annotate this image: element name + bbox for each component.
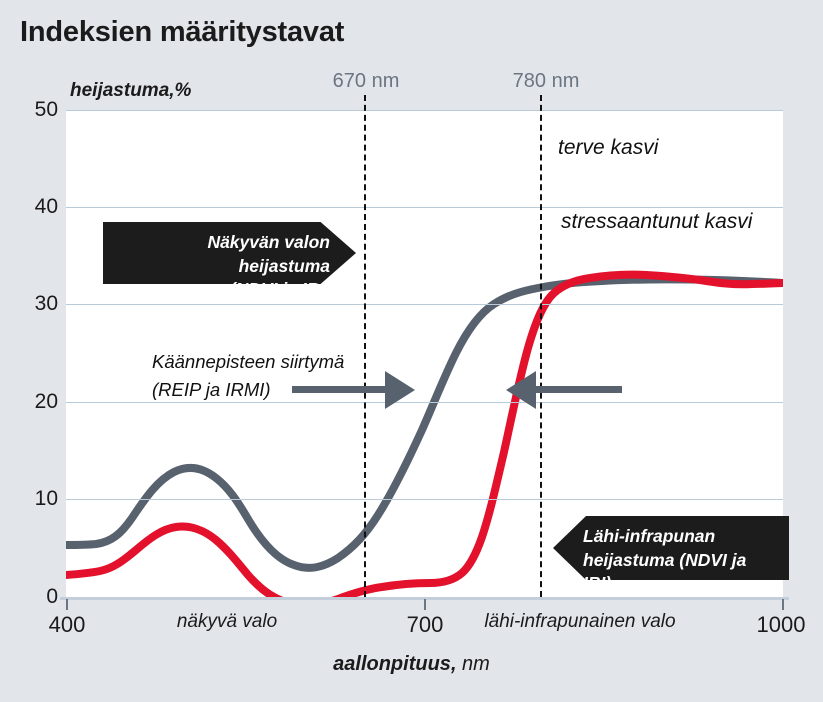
curve-label-healthy: terve kasvi	[558, 136, 658, 160]
x-tick-1000: 1000	[757, 612, 806, 638]
gridline-40	[66, 207, 783, 208]
band-label-visible: näkyvä valo	[177, 611, 277, 633]
y-tick-30: 30	[12, 292, 58, 316]
callout-nir: Lähi-infrapunan heijastuma (NDVI ja IBI)	[553, 516, 789, 580]
x-tick-mark-400	[66, 599, 68, 610]
page-title: Indeksien määritystavat	[20, 16, 344, 49]
gridline-50	[66, 110, 783, 111]
y-axis-ticks: 50 40 30 20 10 0	[0, 110, 58, 597]
x-axis-label: aallonpituus, nm	[0, 653, 823, 676]
x-tick-400: 400	[49, 612, 86, 638]
y-axis-label-text: heijastuma	[70, 80, 169, 101]
shift-arrow-right-shaft	[292, 386, 385, 393]
y-tick-0: 0	[12, 585, 58, 609]
vline-670nm	[364, 95, 366, 597]
x-tick-mark-700	[424, 599, 426, 610]
y-tick-50: 50	[12, 98, 58, 122]
shift-annotation-line1: Käännepisteen siirtymä	[152, 348, 344, 376]
band-label-nir: lähi-infrapunainen valo	[484, 611, 675, 633]
y-axis-label-unit: ,%	[169, 80, 191, 101]
chart-page: Indeksien määritystavat heijastuma,% 50 …	[0, 0, 823, 702]
x-axis-label-text: aallonpituus	[333, 653, 451, 675]
y-tick-10: 10	[12, 487, 58, 511]
gridline-10	[66, 499, 783, 500]
gridline-30	[66, 304, 783, 305]
callout-visible-light: Näkyvän valon heijastuma (NDVI ja IBI)	[103, 222, 356, 284]
shift-annotation: Käännepisteen siirtymä (REIP ja IRMI)	[152, 348, 344, 404]
y-tick-20: 20	[12, 390, 58, 414]
shift-arrow-right-head	[385, 371, 415, 409]
curve-label-stressed: stressaantunut kasvi	[561, 210, 752, 234]
y-axis-label: heijastuma,%	[70, 80, 191, 102]
y-tick-40: 40	[12, 195, 58, 219]
callout-nir-line1: Lähi-infrapunan	[583, 525, 775, 549]
callout-visible-line1: Näkyvän valon heijastuma	[117, 231, 330, 278]
shift-arrow-left-shaft	[536, 386, 622, 393]
vline-label-780nm: 780 nm	[513, 70, 580, 93]
vline-780nm	[540, 95, 542, 597]
vline-label-670nm: 670 nm	[333, 70, 400, 93]
shift-arrow-left-head	[506, 371, 536, 409]
x-tick-700: 700	[407, 612, 444, 638]
x-axis-label-unit: nm	[457, 653, 490, 675]
x-tick-mark-1000	[782, 599, 784, 610]
